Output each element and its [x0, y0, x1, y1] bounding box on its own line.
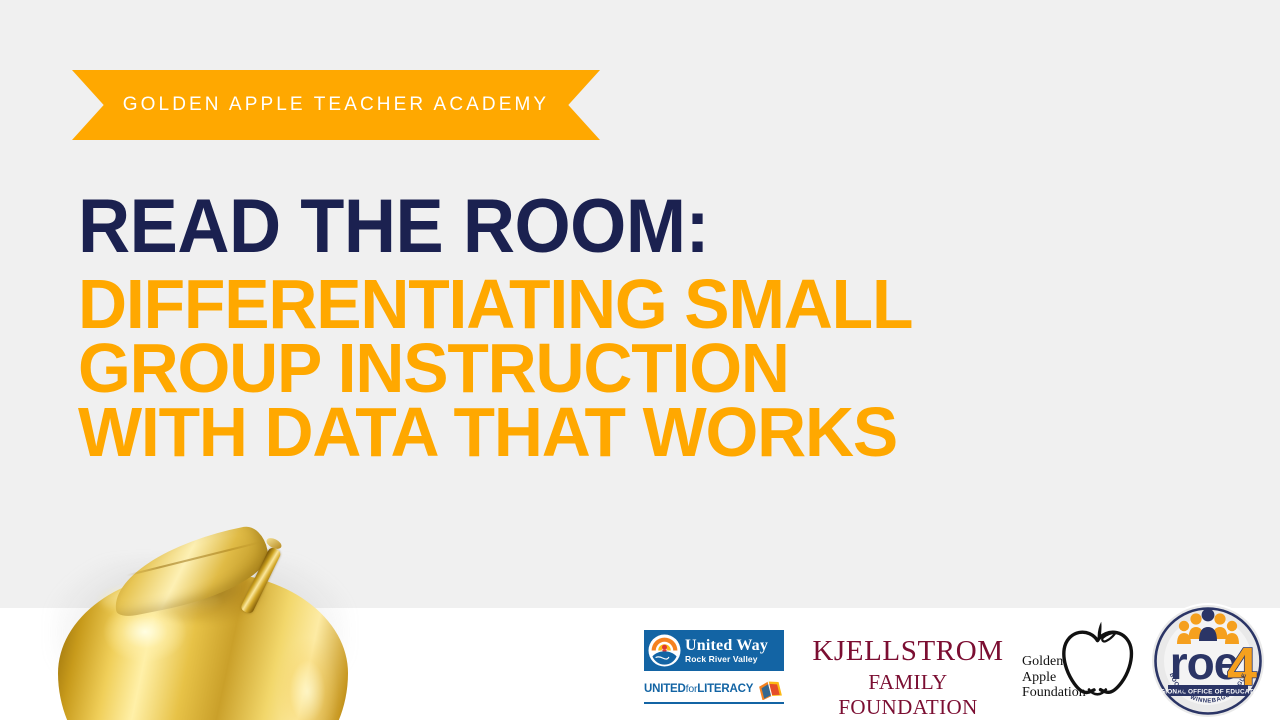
- united-way-badge: United Way Rock River Valley: [644, 630, 784, 671]
- eyebrow-ribbon-label: GOLDEN APPLE TEACHER ACADEMY: [123, 94, 549, 116]
- headline-subtitle: DIFFERENTIATING SMALL GROUP INSTRUCTION …: [78, 272, 1174, 464]
- headline-sub-line-2: GROUP INSTRUCTION: [78, 336, 1174, 400]
- united-way-subtitle: Rock River Valley: [685, 654, 768, 664]
- page-title: READ THE ROOM: DIFFERENTIATING SMALL GRO…: [78, 186, 1208, 464]
- united-for-literacy-lockup: UNITEDforLITERACY: [644, 676, 784, 704]
- gaf-line-3: Foundation: [1022, 685, 1086, 701]
- golden-apple-foundation-wordmark: Golden Apple Foundation: [1022, 654, 1086, 701]
- roe4-ring-text: REGIONAL OFFICE OF EDUCATION: [1151, 688, 1266, 695]
- headline-sub-line-3: WITH DATA THAT WORKS: [78, 400, 1174, 464]
- presentation-slide: GOLDEN APPLE TEACHER ACADEMY READ THE RO…: [0, 0, 1280, 720]
- open-books-icon: [758, 678, 784, 700]
- logo-roe4: roe 4 REGIONAL OFFICE OF EDUCATION BOONE…: [1146, 599, 1270, 720]
- kjellstrom-line-1: KJELLSTROM: [802, 636, 1014, 667]
- gaf-line-1: Golden: [1022, 654, 1086, 670]
- united-for-literacy-word-2: for: [686, 683, 698, 695]
- gaf-line-2: Apple: [1022, 670, 1086, 686]
- logo-united-way: United Way Rock River Valley UNITEDforLI…: [635, 617, 783, 711]
- sponsor-logo-strip: United Way Rock River Valley UNITEDforLI…: [612, 608, 1280, 720]
- headline-main-line: READ THE ROOM:: [78, 186, 1152, 268]
- united-for-literacy-word-3: LITERACY: [697, 683, 753, 695]
- united-way-title: United Way: [685, 637, 768, 654]
- headline-sub-line-1: DIFFERENTIATING SMALL: [78, 272, 1174, 336]
- eyebrow-ribbon: GOLDEN APPLE TEACHER ACADEMY: [72, 70, 600, 140]
- logo-kjellstrom-family-foundation: KJELLSTROM FAMILY FOUNDATION: [802, 636, 1014, 720]
- united-for-literacy-text: UNITEDforLITERACY: [644, 683, 753, 695]
- united-way-rainbow-hand-icon: [648, 634, 681, 667]
- united-way-wordmark: United Way Rock River Valley: [685, 637, 768, 664]
- logo-golden-apple-foundation: Golden Apple Foundation: [1020, 618, 1140, 710]
- united-for-literacy-word-1: UNITED: [644, 683, 686, 695]
- kjellstrom-line-2: FAMILY FOUNDATION: [802, 670, 1014, 720]
